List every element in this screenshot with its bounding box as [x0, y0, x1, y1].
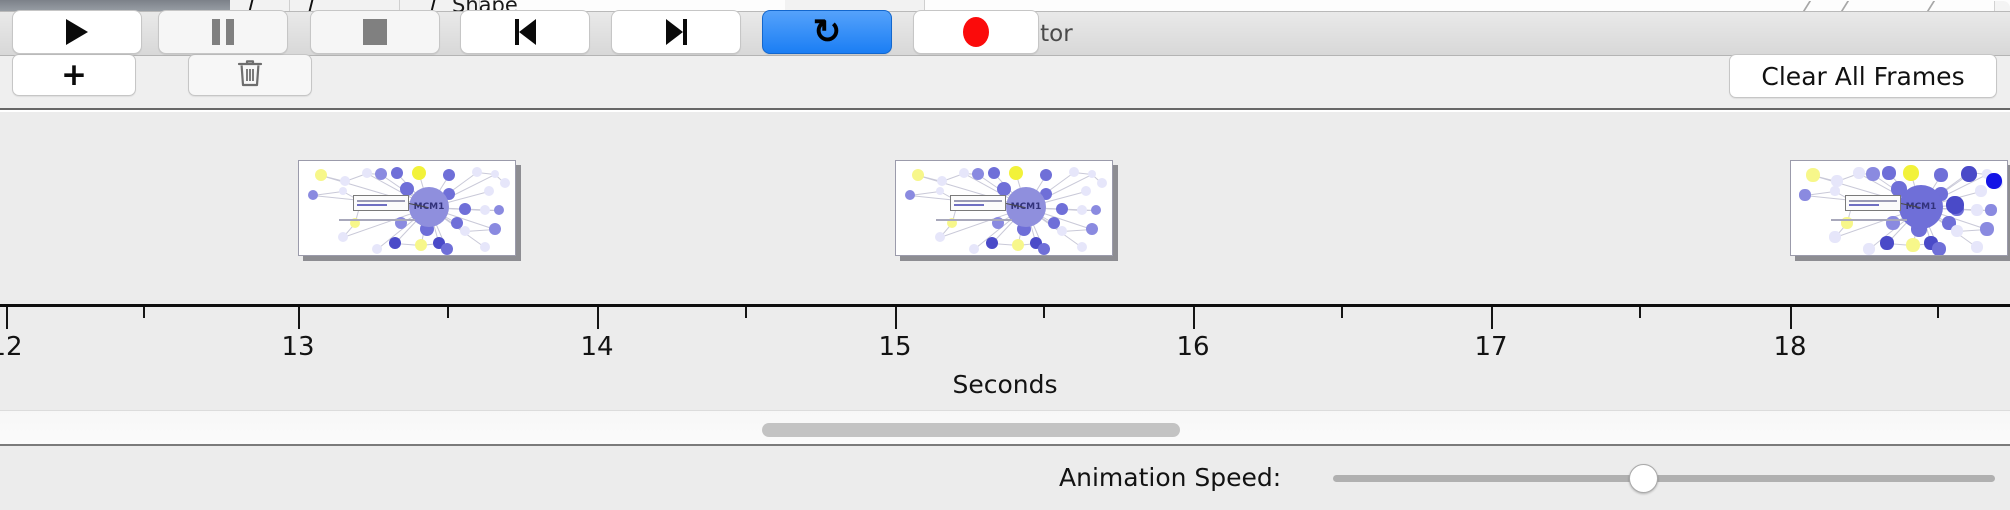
- background-mark: [1927, 1, 1935, 11]
- axis-tick-label: 17: [1474, 332, 1507, 362]
- graph-hub-node: MCM1: [409, 187, 449, 227]
- graph-node: [443, 169, 455, 181]
- graph-node: [340, 176, 350, 186]
- tooltip-text-line: [357, 204, 387, 206]
- graph-node: [1985, 204, 1996, 215]
- timeline-scrollbar[interactable]: [0, 410, 2010, 446]
- scrollbar-thumb[interactable]: [762, 423, 1180, 437]
- axis-tick-label: 15: [878, 332, 911, 362]
- graph-node: [1971, 204, 1982, 215]
- keyframe-thumbnail[interactable]: MCM1: [1790, 160, 2008, 256]
- background-mark: [1803, 1, 1811, 11]
- trash-icon: [237, 58, 263, 92]
- graph-node: [1906, 238, 1919, 251]
- timeline-panel[interactable]: MCM1 MCM1 MCM1 12 13 14 15 16 17 18 Seco…: [0, 112, 2010, 410]
- network-graph: MCM1: [1791, 161, 2007, 255]
- graph-node: [1830, 186, 1839, 195]
- skip-back-icon: [515, 19, 536, 45]
- graph-node: [315, 169, 327, 181]
- loop-button[interactable]: ↻: [762, 10, 892, 54]
- axis-title: Seconds: [0, 370, 2010, 399]
- axis-tick-major: [298, 307, 300, 329]
- graph-node: [986, 237, 998, 249]
- slider-track[interactable]: [1333, 475, 1995, 482]
- play-icon: [66, 19, 88, 45]
- axis-tick-minor: [447, 307, 449, 318]
- pause-icon: [212, 19, 234, 45]
- animation-speed-slider[interactable]: [1333, 446, 1995, 510]
- graph-node: [1951, 225, 1962, 236]
- graph-node: [1903, 165, 1918, 180]
- graph-node: [338, 232, 348, 242]
- graph-node: [912, 169, 924, 181]
- graph-node: [1829, 231, 1840, 242]
- graph-node: [1986, 173, 2001, 188]
- graph-node: [441, 243, 453, 255]
- skip-forward-icon: [666, 19, 687, 45]
- graph-node: [1882, 166, 1895, 179]
- graph-node: [1863, 243, 1874, 254]
- graph-node: [1971, 241, 1982, 252]
- graph-node: [1057, 226, 1067, 236]
- timeline-axis: [0, 304, 2010, 307]
- slider-thumb[interactable]: [1629, 464, 1658, 493]
- axis-tick-minor: [1043, 307, 1045, 318]
- graph-node: [500, 178, 510, 188]
- skip-to-end-button[interactable]: [611, 10, 741, 54]
- graph-node: [1932, 242, 1945, 255]
- graph-node: [491, 170, 499, 178]
- graph-tooltip: [950, 195, 1006, 211]
- network-graph: MCM1: [299, 161, 515, 255]
- stop-button[interactable]: [310, 10, 440, 54]
- graph-node: [494, 205, 504, 215]
- axis-tick-major: [597, 307, 599, 329]
- graph-node: [484, 186, 494, 196]
- keyframe-thumbnail[interactable]: MCM1: [298, 160, 516, 256]
- graph-node: [1946, 196, 1963, 213]
- graph-node: [1086, 223, 1098, 235]
- plus-icon: +: [61, 60, 87, 91]
- graph-node: [1980, 222, 1993, 235]
- graph-node: [1097, 178, 1107, 188]
- graph-tooltip: [353, 195, 409, 211]
- graph-node: [1880, 236, 1893, 249]
- graph-caption-line: [339, 219, 415, 221]
- network-graph: MCM1: [896, 161, 1112, 255]
- loop-icon: ↻: [813, 15, 842, 49]
- stop-icon: [363, 19, 387, 45]
- record-icon: [963, 17, 989, 47]
- graph-node: [1081, 186, 1091, 196]
- graph-node: [391, 167, 403, 179]
- tooltip-text-line: [1849, 204, 1879, 206]
- axis-tick-major: [1790, 307, 1792, 329]
- graph-node: [459, 203, 471, 215]
- graph-node: [472, 167, 482, 177]
- axis-tick-major: [1193, 307, 1195, 329]
- keyframes-track[interactable]: MCM1 MCM1 MCM1: [0, 112, 2010, 304]
- graph-node: [1038, 243, 1050, 255]
- axis-tick-minor: [1937, 307, 1939, 318]
- graph-node: [1806, 168, 1819, 181]
- axis-tick-minor: [143, 307, 145, 318]
- graph-node: [1866, 167, 1879, 180]
- record-button[interactable]: [913, 10, 1039, 54]
- graph-node: [308, 190, 318, 200]
- axis-tick-minor: [745, 307, 747, 318]
- graph-node: [969, 244, 979, 254]
- axis-tick-major: [6, 307, 8, 329]
- graph-node: [362, 168, 372, 178]
- cyanimator-window: Shape CyAnimator + Clear All Frames: [0, 0, 2010, 510]
- tooltip-text-line: [1849, 200, 1897, 202]
- graph-node: [1975, 185, 1986, 196]
- graph-node: [1077, 205, 1087, 215]
- tooltip-text-line: [954, 204, 984, 206]
- play-button[interactable]: [12, 10, 142, 54]
- graph-node: [1056, 203, 1068, 215]
- graph-caption-line: [1831, 219, 1907, 221]
- graph-node: [389, 237, 401, 249]
- graph-tooltip: [1845, 195, 1901, 211]
- graph-node: [372, 244, 382, 254]
- graph-node: [480, 205, 490, 215]
- tooltip-text-line: [954, 200, 1002, 202]
- graph-node: [339, 187, 347, 195]
- axis-tick-minor: [1341, 307, 1343, 318]
- graph-node: [1799, 189, 1810, 200]
- graph-node: [937, 176, 947, 186]
- axis-tick-major: [1491, 307, 1493, 329]
- graph-node: [412, 166, 426, 180]
- graph-node: [400, 182, 414, 196]
- graph-node: [1069, 167, 1079, 177]
- graph-node: [1040, 169, 1052, 181]
- axis-tick-label: 12: [0, 332, 23, 362]
- graph-node: [1088, 170, 1096, 178]
- graph-node: [997, 182, 1011, 196]
- graph-node: [988, 167, 1000, 179]
- graph-node: [972, 168, 984, 180]
- graph-node: [1091, 205, 1101, 215]
- background-mark: [1841, 1, 1849, 11]
- graph-node: [480, 242, 490, 252]
- axis-tick-label: 14: [580, 332, 613, 362]
- axis-tick-label: 18: [1773, 332, 1806, 362]
- graph-node: [905, 190, 915, 200]
- graph-node: [1853, 167, 1864, 178]
- graph-node: [1009, 166, 1023, 180]
- keyframe-thumbnail[interactable]: MCM1: [895, 160, 1113, 256]
- delete-frame-button[interactable]: [188, 54, 312, 96]
- graph-caption-line: [936, 219, 1012, 221]
- graph-node: [375, 168, 387, 180]
- graph-node: [415, 239, 427, 251]
- graph-node: [1077, 242, 1087, 252]
- graph-hub-node: MCM1: [1899, 185, 1943, 229]
- graph-node: [959, 168, 969, 178]
- graph-node: [460, 226, 470, 236]
- clear-all-frames-button[interactable]: Clear All Frames: [1729, 54, 1997, 98]
- graph-node: [1012, 239, 1024, 251]
- add-frame-button[interactable]: +: [12, 54, 136, 96]
- axis-tick-minor: [1639, 307, 1641, 318]
- animation-speed-label: Animation Speed:: [1059, 446, 1281, 510]
- axis-tick-major: [895, 307, 897, 329]
- tooltip-text-line: [357, 200, 405, 202]
- graph-node: [935, 232, 945, 242]
- background-window-corner: [1994, 1, 2010, 12]
- skip-to-start-button[interactable]: [460, 10, 590, 54]
- graph-hub-node: MCM1: [1006, 187, 1046, 227]
- graph-node: [1831, 175, 1842, 186]
- graph-node: [1934, 168, 1947, 181]
- pause-button[interactable]: [158, 10, 288, 54]
- graph-node: [936, 187, 944, 195]
- axis-tick-label: 13: [281, 332, 314, 362]
- axis-tick-label: 16: [1176, 332, 1209, 362]
- graph-node: [489, 223, 501, 235]
- graph-node: [1961, 166, 1976, 181]
